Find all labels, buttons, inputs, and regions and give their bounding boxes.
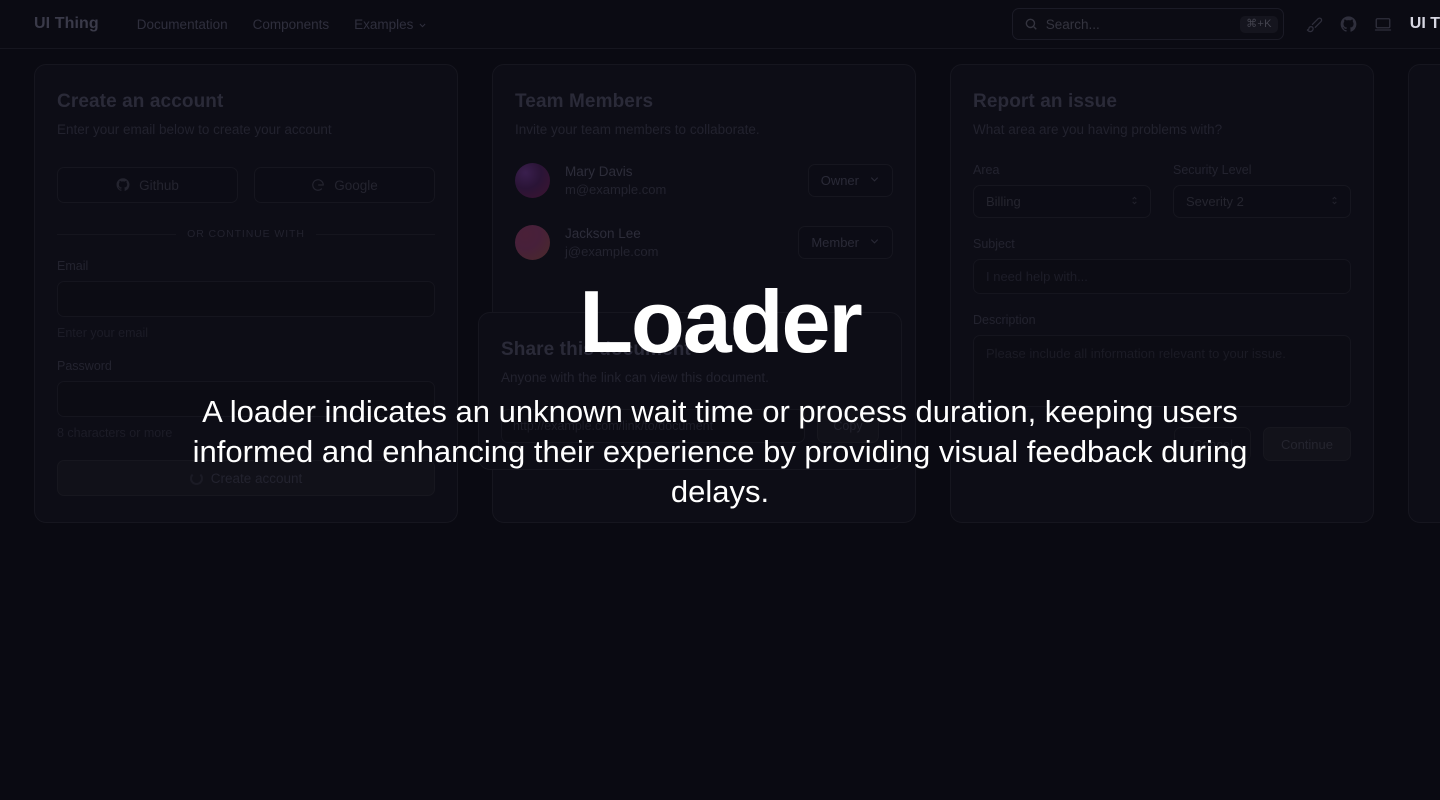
page-title: Create an account: [57, 91, 435, 113]
member-name: Mary Davis: [565, 163, 666, 181]
member-role-label: Owner: [821, 173, 859, 188]
security-level-value: Severity 2: [1186, 194, 1244, 209]
loader-spinner-icon: [190, 472, 203, 485]
password-input[interactable]: [57, 381, 435, 417]
github-signin-label: Github: [139, 178, 179, 193]
brush-icon[interactable]: [1298, 7, 1332, 41]
google-icon: [311, 178, 325, 192]
area-select-value: Billing: [986, 194, 1021, 209]
description-textarea[interactable]: Please include all information relevant …: [973, 335, 1351, 407]
subject-placeholder: I need help with...: [986, 269, 1088, 284]
area-label: Area: [973, 163, 1151, 177]
report-selects-row: Area Billing Security Level Severity 2: [973, 163, 1351, 218]
description-placeholder: Please include all information relevant …: [986, 346, 1286, 361]
subject-label: Subject: [973, 237, 1351, 251]
chevron-up-down-icon: [1329, 194, 1340, 209]
create-account-button[interactable]: Create account: [57, 460, 435, 496]
nav-link-components[interactable]: Components: [253, 17, 330, 32]
search-shortcut-badge: ⌘+K: [1240, 16, 1278, 33]
list-item: Mary Davis m@example.com Owner: [515, 163, 893, 199]
oauth-divider: OR CONTINUE WITH: [57, 228, 435, 240]
password-label: Password: [57, 359, 435, 373]
google-signin-label: Google: [334, 178, 378, 193]
divider-line-right: [316, 234, 435, 235]
brand-logo[interactable]: UI Thing: [34, 15, 99, 33]
avatar: [515, 225, 550, 260]
divider-label: OR CONTINUE WITH: [187, 228, 305, 240]
google-signin-button[interactable]: Google: [254, 167, 435, 203]
chevron-down-icon: [869, 173, 880, 188]
member-name: Jackson Lee: [565, 225, 658, 243]
avatar: [515, 163, 550, 198]
github-icon: [116, 178, 130, 192]
nav-links: Documentation Components Examples: [137, 17, 428, 32]
list-item: Jackson Lee j@example.com Member: [515, 225, 893, 261]
nav-link-documentation[interactable]: Documentation: [137, 17, 228, 32]
search-box[interactable]: Search... ⌘+K: [1012, 8, 1284, 40]
partial-card-offscreen: [1408, 64, 1440, 523]
brand-logo-right[interactable]: UI T: [1410, 15, 1440, 33]
chevron-down-icon: [869, 235, 880, 250]
nav-link-label: Documentation: [137, 17, 228, 32]
security-field-group: Security Level Severity 2: [1173, 163, 1351, 218]
copy-link-button[interactable]: Copy: [817, 409, 879, 443]
create-account-subtitle: Enter your email below to create your ac…: [57, 122, 435, 137]
divider-line-left: [57, 234, 176, 235]
share-document-card: Share this document Anyone with the link…: [478, 312, 902, 470]
share-subtitle: Anyone with the link can view this docum…: [501, 370, 879, 385]
area-select[interactable]: Billing: [973, 185, 1151, 218]
create-account-button-label: Create account: [211, 471, 303, 486]
description-label: Description: [973, 313, 1351, 327]
share-link-row: http://example.com/link/to/document Copy: [501, 409, 879, 443]
security-level-label: Security Level: [1173, 163, 1351, 177]
github-signin-button[interactable]: Github: [57, 167, 238, 203]
search-icon: [1024, 17, 1038, 31]
share-document-wrap: Share this document Anyone with the link…: [478, 312, 902, 470]
top-navbar: UI Thing Documentation Components Exampl…: [0, 0, 1440, 49]
create-account-card: Create an account Enter your email below…: [34, 64, 458, 523]
member-role-select[interactable]: Owner: [808, 164, 893, 197]
email-field-group: Email Enter your email: [57, 259, 435, 340]
member-info: Jackson Lee j@example.com: [565, 225, 658, 261]
report-issue-subtitle: What area are you having problems with?: [973, 122, 1351, 137]
description-field-group: Description Please include all informati…: [973, 313, 1351, 407]
report-issue-title: Report an issue: [973, 91, 1351, 113]
email-hint: Enter your email: [57, 326, 435, 340]
share-link-input[interactable]: http://example.com/link/to/document: [501, 409, 805, 443]
share-title: Share this document: [501, 339, 879, 361]
nav-link-examples[interactable]: Examples: [354, 17, 427, 32]
laptop-icon[interactable]: [1366, 7, 1400, 41]
subject-field-group: Subject I need help with...: [973, 237, 1351, 294]
continue-button[interactable]: Continue: [1263, 427, 1351, 461]
report-issue-card: Report an issue What area are you having…: [950, 64, 1374, 523]
member-info: Mary Davis m@example.com: [565, 163, 666, 199]
member-role-select[interactable]: Member: [798, 226, 893, 259]
search-placeholder: Search...: [1046, 17, 1232, 32]
nav-link-label: Examples: [354, 17, 413, 32]
nav-right-group: Search... ⌘+K UI T: [1012, 7, 1440, 41]
password-hint: 8 characters or more: [57, 426, 435, 440]
oauth-buttons: Github Google: [57, 167, 435, 203]
subject-input[interactable]: I need help with...: [973, 259, 1351, 294]
team-members-subtitle: Invite your team members to collaborate.: [515, 122, 893, 137]
report-actions: Cancel Continue: [973, 427, 1351, 461]
email-label: Email: [57, 259, 435, 273]
chevron-down-icon: [418, 21, 427, 30]
email-input[interactable]: [57, 281, 435, 317]
page-root: UI Thing Documentation Components Exampl…: [0, 0, 1440, 800]
member-email: m@example.com: [565, 181, 666, 199]
nav-link-label: Components: [253, 17, 330, 32]
chevron-up-down-icon: [1129, 194, 1140, 209]
area-field-group: Area Billing: [973, 163, 1151, 218]
member-role-label: Member: [811, 235, 859, 250]
github-icon[interactable]: [1332, 7, 1366, 41]
password-field-group: Password 8 characters or more: [57, 359, 435, 440]
cancel-button[interactable]: Cancel: [1174, 427, 1250, 461]
share-link-value: http://example.com/link/to/document: [513, 419, 713, 433]
team-members-title: Team Members: [515, 91, 893, 113]
member-email: j@example.com: [565, 243, 658, 261]
security-level-select[interactable]: Severity 2: [1173, 185, 1351, 218]
